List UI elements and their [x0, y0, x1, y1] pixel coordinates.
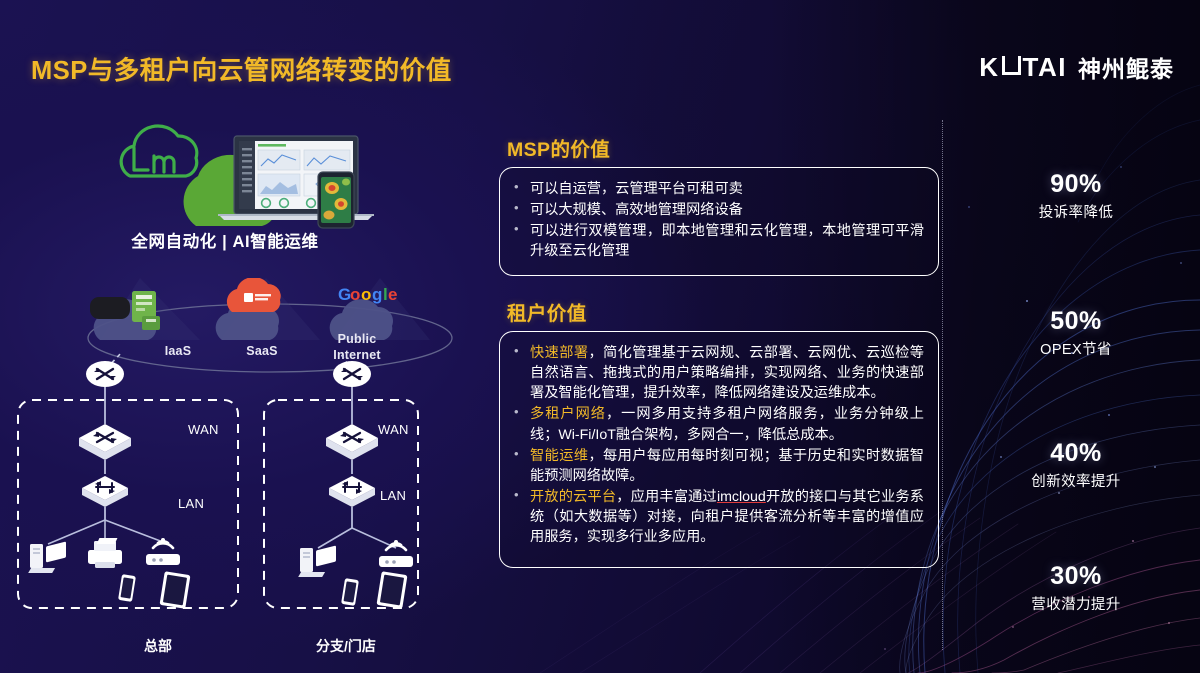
- list-item: 开放的云平台，应用丰富通过imcloud开放的接口与其它业务系统（如大数据等）对…: [510, 487, 924, 547]
- spellcheck-term: imcloud: [717, 489, 766, 505]
- msp-bullet-list: 可以自运营，云管理平台可租可卖 可以大规模、高效地管理网络设备 可以进行双模管理…: [510, 179, 924, 262]
- service-cloud-iaas: [90, 291, 160, 340]
- architecture-illustration: 全网自动化 | AI智能运维: [0, 100, 470, 673]
- stat-label: 营收潜力提升: [952, 593, 1200, 614]
- list-item: 可以大规模、高效地管理网络设备: [510, 200, 924, 220]
- svg-text:o: o: [350, 285, 360, 304]
- section-heading-msp: MSP的价值: [507, 133, 610, 162]
- topology-label-hq-wan: WAN: [188, 422, 219, 437]
- smartphone-heatmap-icon: [318, 172, 354, 228]
- site-label-hq: 总部: [88, 636, 228, 656]
- tenant-value-card: 快速部署，简化管理基于云网规、云部署、云网优、云巡检等自然语言、拖拽式的用户策略…: [499, 331, 939, 568]
- topology-label-branch-lan: LAN: [380, 488, 406, 503]
- stats-column: 90% 投诉率降低 50% OPEX节省 40% 创新效率提升 30% 营收潜力…: [952, 0, 1200, 673]
- service-cloud-saas: [216, 278, 281, 340]
- tenant-bullet-list: 快速部署，简化管理基于云网规、云部署、云网优、云巡检等自然语言、拖拽式的用户策略…: [510, 343, 924, 548]
- bullet-keyword: 多租户网络: [530, 406, 606, 422]
- slide-root: MSP与多租户向云管网络转变的价值 KTAI 神州鲲泰: [0, 0, 1200, 673]
- vertical-dotted-divider: [942, 120, 943, 650]
- list-item: 可以进行双模管理，即本地管理和云化管理，本地管理可平滑升级至云化管理: [510, 221, 924, 261]
- stat-item: 50% OPEX节省: [952, 307, 1200, 359]
- imcloud-product-visual: [100, 114, 400, 244]
- svg-text:g: g: [372, 285, 382, 304]
- stat-value: 40%: [952, 439, 1200, 468]
- topology-group-hq: [18, 361, 238, 609]
- im-cloud-logo-icon: [121, 126, 197, 176]
- list-item: 智能运维，每用户每应用每时刻可视；基于历史和实时数据智能预测网络故障。: [510, 446, 924, 486]
- topology-label-hq-lan: LAN: [178, 496, 204, 511]
- page-title: MSP与多租户向云管网络转变的价值: [31, 50, 452, 87]
- svg-text:e: e: [388, 285, 397, 304]
- list-item: 多租户网络，一网多用支持多租户网络服务，业务分钟级上线；Wi-Fi/IoT融合架…: [510, 404, 924, 444]
- stat-label: OPEX节省: [952, 338, 1200, 359]
- topology-label-branch-wan: WAN: [378, 422, 409, 437]
- service-label-public: Public: [324, 332, 390, 346]
- illustration-caption: 全网自动化 | AI智能运维: [0, 228, 450, 252]
- stat-item: 40% 创新效率提升: [952, 439, 1200, 491]
- stat-value: 30%: [952, 562, 1200, 591]
- stat-item: 90% 投诉率降低: [952, 170, 1200, 222]
- value-sections: MSP的价值 可以自运营，云管理平台可租可卖 可以大规模、高效地管理网络设备 可…: [495, 0, 945, 673]
- list-item: 快速部署，简化管理基于云网规、云部署、云网优、云巡检等自然语言、拖拽式的用户策略…: [510, 343, 924, 403]
- stat-value: 90%: [952, 170, 1200, 199]
- svg-text:o: o: [361, 285, 371, 304]
- section-heading-tenant: 租户价值: [507, 297, 587, 326]
- network-topology: [0, 352, 470, 672]
- site-label-branch: 分支/门店: [276, 636, 416, 656]
- topology-group-branch: [264, 361, 418, 609]
- stat-label: 投诉率降低: [952, 201, 1200, 222]
- stat-label: 创新效率提升: [952, 470, 1200, 491]
- stat-item: 30% 营收潜力提升: [952, 562, 1200, 614]
- bullet-keyword: 快速部署: [530, 345, 588, 361]
- bullet-keyword: 开放的云平台: [530, 489, 616, 505]
- stat-value: 50%: [952, 307, 1200, 336]
- msp-value-card: 可以自运营，云管理平台可租可卖 可以大规模、高效地管理网络设备 可以进行双模管理…: [499, 167, 939, 276]
- list-item: 可以自运营，云管理平台可租可卖: [510, 179, 924, 199]
- bullet-keyword: 智能运维: [530, 448, 588, 464]
